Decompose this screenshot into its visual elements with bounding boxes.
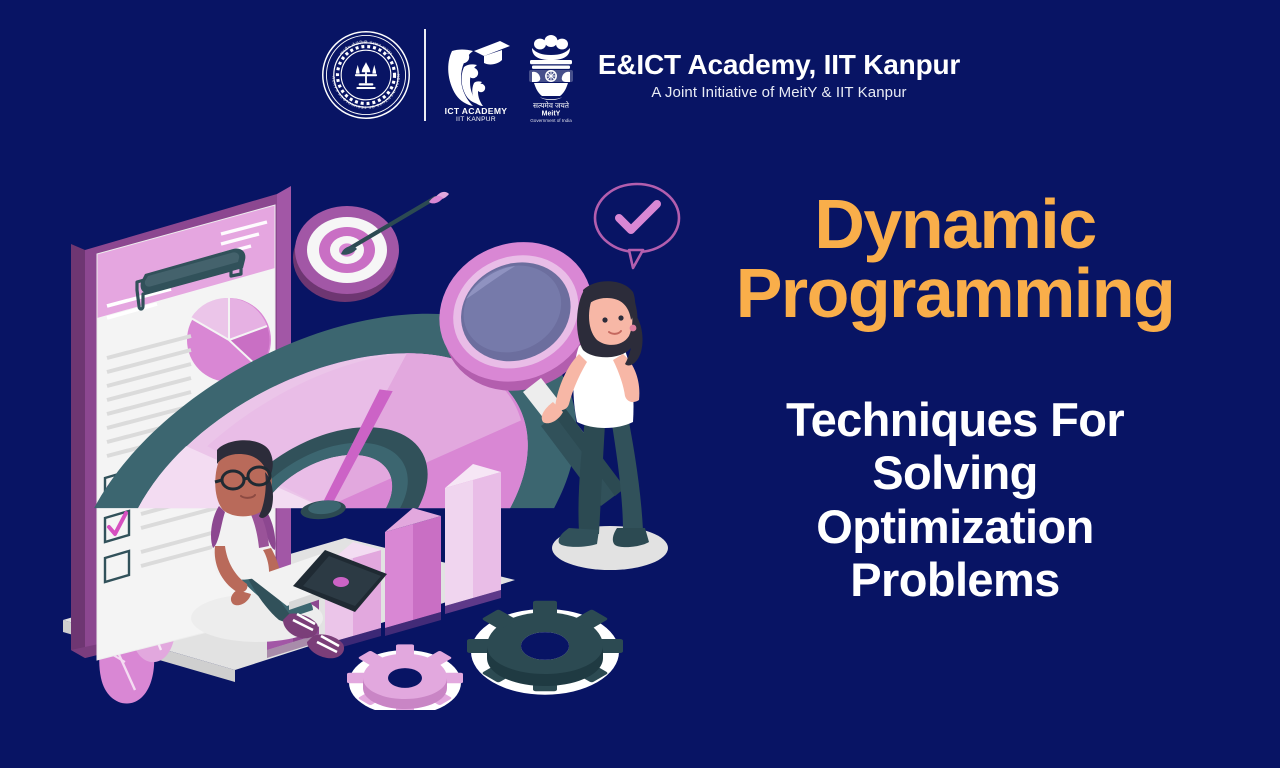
illustration-canvas — [45, 150, 685, 710]
dartboard-with-arrow — [293, 192, 449, 302]
page-title: Dynamic Programming — [655, 190, 1255, 329]
iit-kanpur-seal-icon: भारतीय प्रौद्योगिकी संस्थान कानपुर INDIA… — [320, 29, 412, 121]
header-divider — [424, 29, 426, 121]
header-bar: भारतीय प्रौद्योगिकी संस्थान कानपुर INDIA… — [0, 0, 1280, 150]
header-logo-group: भारतीय प्रौद्योगिकी संस्थान कानपुर INDIA… — [320, 27, 960, 123]
svg-text:Government of India: Government of India — [530, 118, 572, 123]
speech-bubble-check — [595, 184, 679, 268]
bar-4 — [445, 464, 501, 614]
ict-academy-logo-icon: ICT ACADEMY IIT KANPUR — [440, 29, 512, 121]
gear-large-dark — [467, 601, 623, 695]
subhead-line-3: Optimization — [655, 500, 1255, 554]
headline-line-2: Programming — [655, 259, 1255, 328]
header-title: E&ICT Academy, IIT Kanpur — [598, 49, 960, 80]
bar-3 — [385, 508, 441, 636]
hero-copy: Dynamic Programming Techniques For Solvi… — [655, 190, 1255, 607]
subhead-line-2: Solving — [655, 446, 1255, 500]
page-subtitle: Techniques For Solving Optimization Prob… — [655, 329, 1255, 607]
meity-emblem-icon: सत्यमेव जयते MeitY Government of India — [520, 27, 582, 123]
optimization-illustration — [45, 150, 685, 710]
svg-text:IIT KANPUR: IIT KANPUR — [456, 116, 496, 121]
headline-line-1: Dynamic — [814, 185, 1095, 263]
header-text-block: E&ICT Academy, IIT Kanpur A Joint Initia… — [598, 49, 960, 101]
svg-text:ICT ACADEMY: ICT ACADEMY — [445, 106, 508, 116]
header-subtitle: A Joint Initiative of MeitY & IIT Kanpur — [651, 84, 906, 101]
svg-text:MeitY: MeitY — [542, 111, 561, 118]
subhead-line-4: Problems — [655, 553, 1255, 607]
poster-canvas: भारतीय प्रौद्योगिकी संस्थान कानपुर INDIA… — [0, 0, 1280, 768]
subhead-line-1: Techniques For — [655, 393, 1255, 447]
svg-text:सत्यमेव जयते: सत्यमेव जयते — [533, 101, 570, 110]
